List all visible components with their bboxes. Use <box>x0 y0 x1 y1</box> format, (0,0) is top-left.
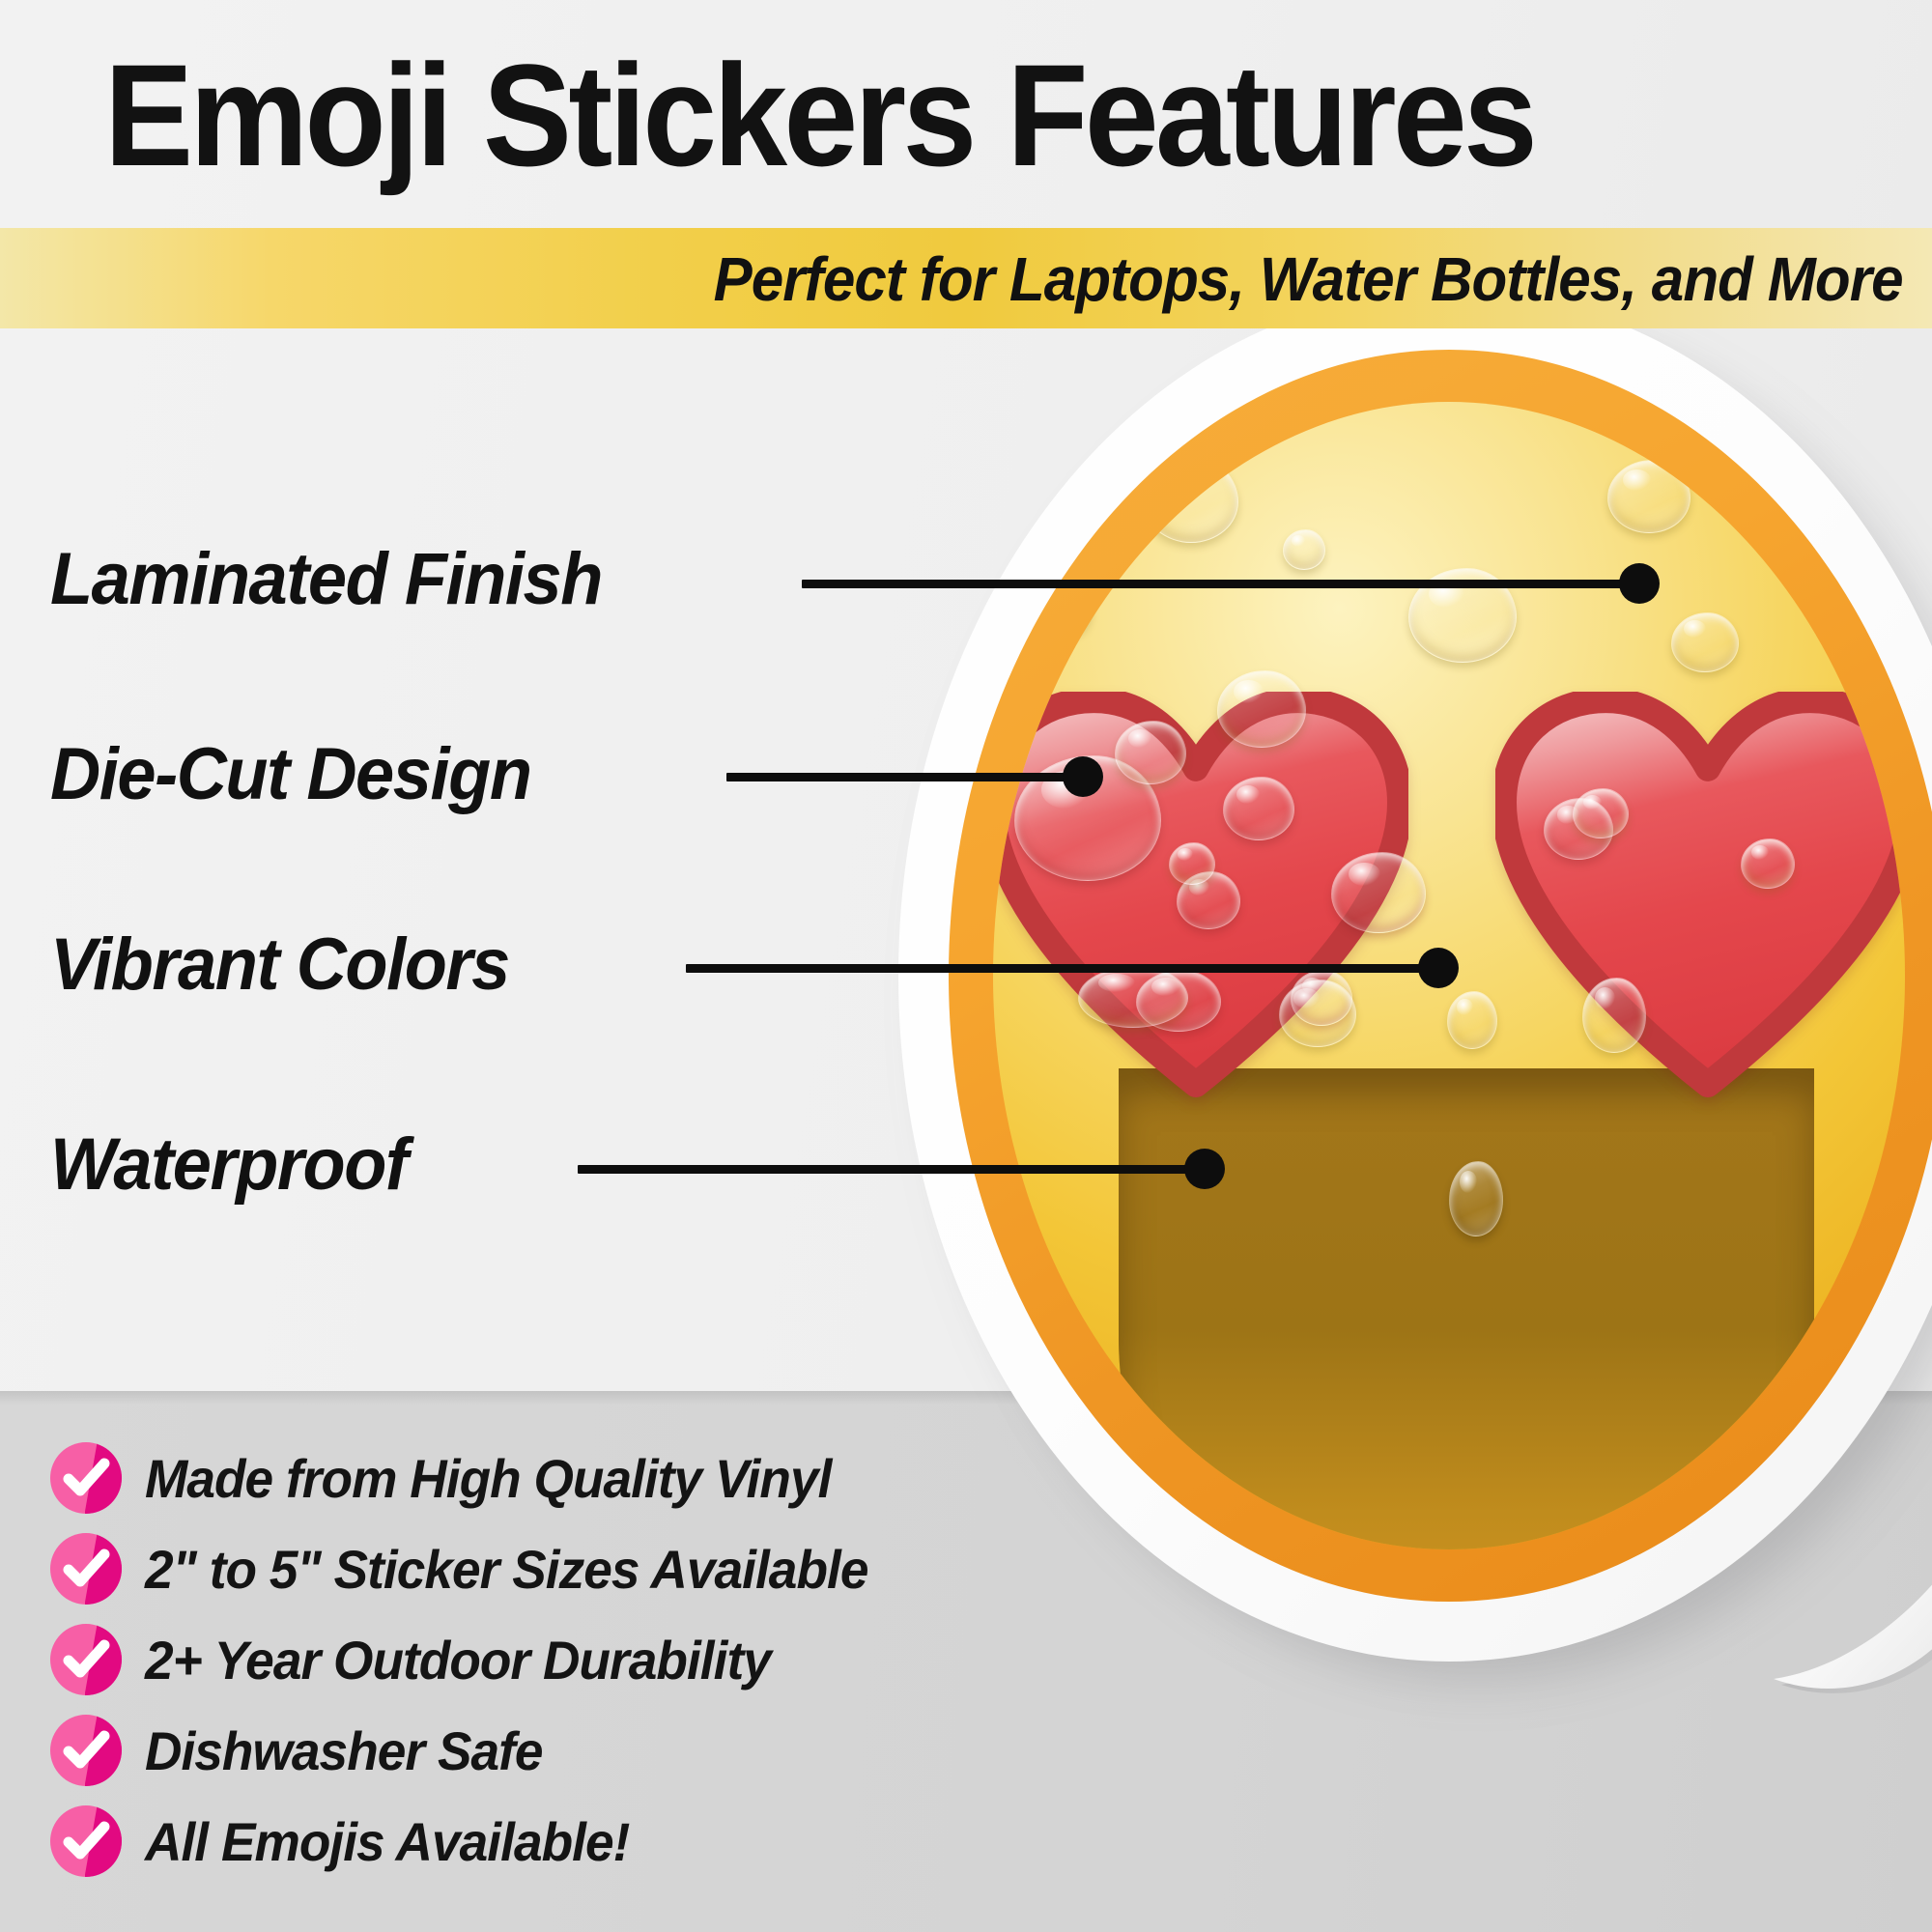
water-droplet <box>1447 991 1497 1049</box>
list-item: Made from High Quality Vinyl <box>50 1441 1161 1515</box>
water-droplet <box>1115 721 1186 784</box>
water-droplet <box>1283 529 1325 570</box>
callout-label-vibrant-colors: Vibrant Colors <box>50 923 509 1007</box>
check-circle-icon <box>50 1624 122 1695</box>
callout-leader-line-die-cut-design <box>726 773 1094 781</box>
callout-dot-laminated-finish <box>1619 563 1660 604</box>
list-item: 2" to 5" Sticker Sizes Available <box>50 1532 1161 1605</box>
water-droplet <box>1582 978 1646 1053</box>
list-item-label: Dishwasher Safe <box>145 1719 543 1782</box>
list-item: All Emojis Available! <box>50 1804 1161 1878</box>
water-droplet <box>1449 1161 1503 1236</box>
check-circle-icon <box>50 1805 122 1877</box>
callout-dot-die-cut-design <box>1063 756 1103 797</box>
list-item: Dishwasher Safe <box>50 1714 1161 1787</box>
callout-leader-line-laminated-finish <box>802 580 1652 588</box>
water-droplet <box>1217 670 1306 748</box>
list-item-label: Made from High Quality Vinyl <box>145 1447 831 1510</box>
water-droplet <box>1169 842 1215 885</box>
page-title: Emoji Stickers Features <box>104 43 1704 187</box>
check-circle-icon <box>50 1533 122 1605</box>
check-circle-icon <box>50 1442 122 1514</box>
water-droplet <box>1032 583 1092 636</box>
callout-label-die-cut-design: Die-Cut Design <box>50 732 531 816</box>
right-heart-eye <box>1495 692 1905 1097</box>
callout-dot-waterproof <box>1184 1149 1225 1189</box>
water-droplet <box>1671 612 1739 672</box>
list-item: 2+ Year Outdoor Durability <box>50 1623 1161 1696</box>
callout-label-laminated-finish: Laminated Finish <box>50 537 602 621</box>
check-circle-icon <box>50 1715 122 1786</box>
water-droplet <box>1279 980 1356 1047</box>
callout-leader-line-vibrant-colors <box>686 964 1449 973</box>
page-subtitle: Perfect for Laptops, Water Bottles, and … <box>714 243 1903 315</box>
water-droplet <box>1741 838 1795 889</box>
water-droplet <box>1144 458 1238 543</box>
water-droplet <box>1607 460 1690 533</box>
water-droplet <box>1573 788 1629 838</box>
list-item-label: 2+ Year Outdoor Durability <box>145 1629 771 1691</box>
water-droplet <box>1078 966 1188 1028</box>
callout-leader-line-waterproof <box>578 1165 1215 1174</box>
callout-dot-vibrant-colors <box>1418 948 1459 988</box>
list-item-label: All Emojis Available! <box>145 1810 629 1873</box>
infographic-page: Emoji Stickers Features Perfect for Lapt… <box>0 0 1932 1932</box>
callout-label-waterproof: Waterproof <box>50 1122 407 1207</box>
feature-bullet-list: Made from High Quality Vinyl 2" to 5" St… <box>50 1441 1161 1895</box>
smiling-mouth <box>1119 1068 1814 1549</box>
list-item-label: 2" to 5" Sticker Sizes Available <box>145 1538 867 1601</box>
